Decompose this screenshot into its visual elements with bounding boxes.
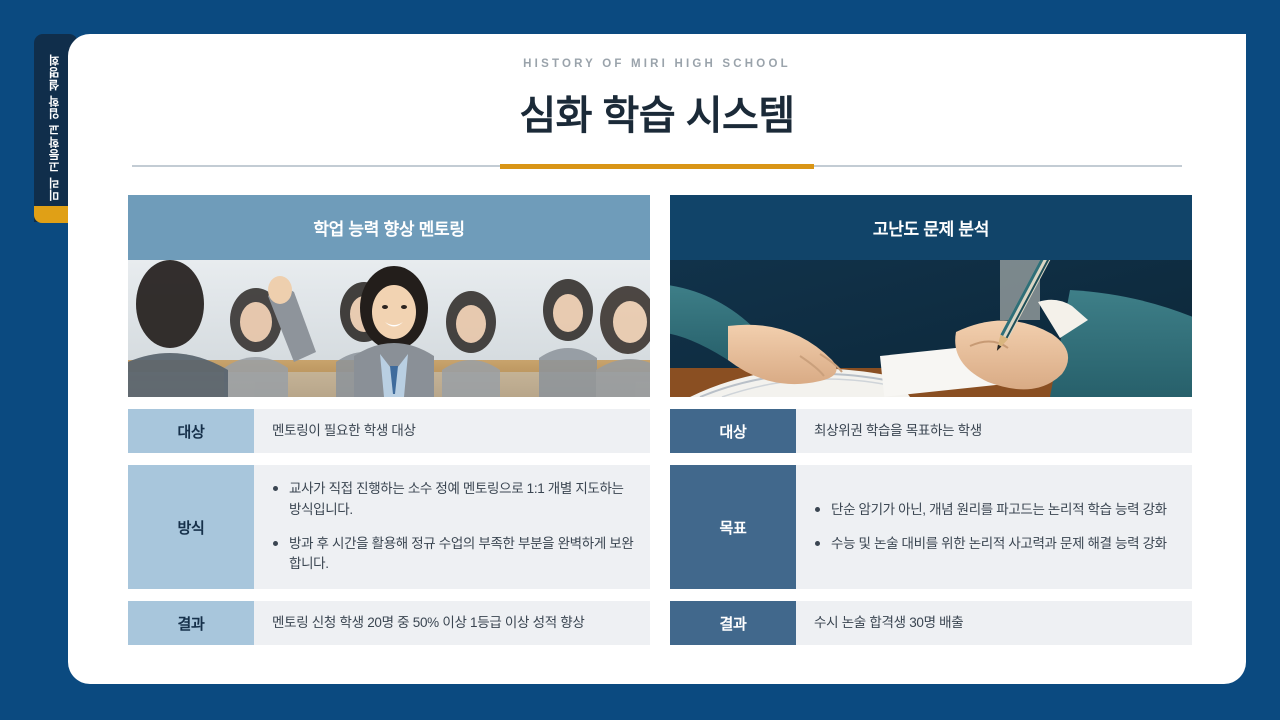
bullet-list: 교사가 직접 진행하는 소수 정예 멘토링으로 1:1 개별 지도하는 방식입니… bbox=[272, 479, 634, 574]
info-rows: 대상 멘토링이 필요한 학생 대상 방식 교사가 직접 진행하는 소수 정예 멘… bbox=[128, 409, 650, 645]
info-row: 대상 최상위권 학습을 목표하는 학생 bbox=[670, 409, 1192, 453]
classroom-students-raising-hands-photo bbox=[128, 260, 650, 397]
row-body: 멘토링 신청 학생 20명 중 50% 이상 1등급 이상 성적 향상 bbox=[254, 601, 650, 645]
row-body: 수시 논술 합격생 30명 배출 bbox=[796, 601, 1192, 645]
row-text: 멘토링이 필요한 학생 대상 bbox=[272, 421, 634, 441]
row-body: 멘토링이 필요한 학생 대상 bbox=[254, 409, 650, 453]
hands-writing-with-pencil-on-notebook-photo bbox=[670, 260, 1192, 397]
side-tab-label: 미리 고등학교 입학 설명회 bbox=[50, 54, 62, 201]
list-item: 수능 및 논술 대비를 위한 논리적 사고력과 문제 해결 능력 강화 bbox=[814, 534, 1176, 555]
list-item: 교사가 직접 진행하는 소수 정예 멘토링으로 1:1 개별 지도하는 방식입니… bbox=[272, 479, 634, 520]
slide-root: 미리 고등학교 입학 설명회 HISTORY OF MIRI HIGH SCHO… bbox=[0, 0, 1280, 720]
row-label: 목표 bbox=[670, 465, 796, 589]
page-title: 심화 학습 시스템 bbox=[68, 83, 1246, 141]
info-row: 목표 단순 암기가 아닌, 개념 원리를 파고드는 논리적 학습 능력 강화 수… bbox=[670, 465, 1192, 589]
content-card: HISTORY OF MIRI HIGH SCHOOL 심화 학습 시스템 학업… bbox=[68, 34, 1246, 684]
row-text: 멘토링 신청 학생 20명 중 50% 이상 1등급 이상 성적 향상 bbox=[272, 613, 634, 633]
program-column-advanced-analysis: 고난도 문제 분석 bbox=[670, 195, 1192, 645]
info-row: 결과 멘토링 신청 학생 20명 중 50% 이상 1등급 이상 성적 향상 bbox=[128, 601, 650, 645]
row-body: 교사가 직접 진행하는 소수 정예 멘토링으로 1:1 개별 지도하는 방식입니… bbox=[254, 465, 650, 589]
bullet-list: 단순 암기가 아닌, 개념 원리를 파고드는 논리적 학습 능력 강화 수능 및… bbox=[814, 500, 1176, 554]
row-text: 수시 논술 합격생 30명 배출 bbox=[814, 613, 1176, 633]
divider-gold-segment bbox=[500, 164, 814, 169]
row-body: 최상위권 학습을 목표하는 학생 bbox=[796, 409, 1192, 453]
row-body: 단순 암기가 아닌, 개념 원리를 파고드는 논리적 학습 능력 강화 수능 및… bbox=[796, 465, 1192, 589]
info-row: 방식 교사가 직접 진행하는 소수 정예 멘토링으로 1:1 개별 지도하는 방… bbox=[128, 465, 650, 589]
list-item: 방과 후 시간을 활용해 정규 수업의 부족한 부분을 완벽하게 보완합니다. bbox=[272, 534, 634, 575]
column-header: 고난도 문제 분석 bbox=[670, 195, 1192, 260]
row-label: 대상 bbox=[128, 409, 254, 453]
info-row: 결과 수시 논술 합격생 30명 배출 bbox=[670, 601, 1192, 645]
column-header: 학업 능력 향상 멘토링 bbox=[128, 195, 650, 260]
row-label: 방식 bbox=[128, 465, 254, 589]
info-rows: 대상 최상위권 학습을 목표하는 학생 목표 단순 암기가 아닌, 개념 원리를… bbox=[670, 409, 1192, 645]
row-text: 최상위권 학습을 목표하는 학생 bbox=[814, 421, 1176, 441]
program-column-mentoring: 학업 능력 향상 멘토링 bbox=[128, 195, 650, 645]
row-label: 결과 bbox=[128, 601, 254, 645]
list-item: 단순 암기가 아닌, 개념 원리를 파고드는 논리적 학습 능력 강화 bbox=[814, 500, 1176, 521]
row-label: 대상 bbox=[670, 409, 796, 453]
program-columns: 학업 능력 향상 멘토링 bbox=[128, 195, 1192, 645]
title-divider bbox=[132, 164, 1182, 168]
eyebrow-text: HISTORY OF MIRI HIGH SCHOOL bbox=[68, 58, 1246, 70]
row-label: 결과 bbox=[670, 601, 796, 645]
info-row: 대상 멘토링이 필요한 학생 대상 bbox=[128, 409, 650, 453]
